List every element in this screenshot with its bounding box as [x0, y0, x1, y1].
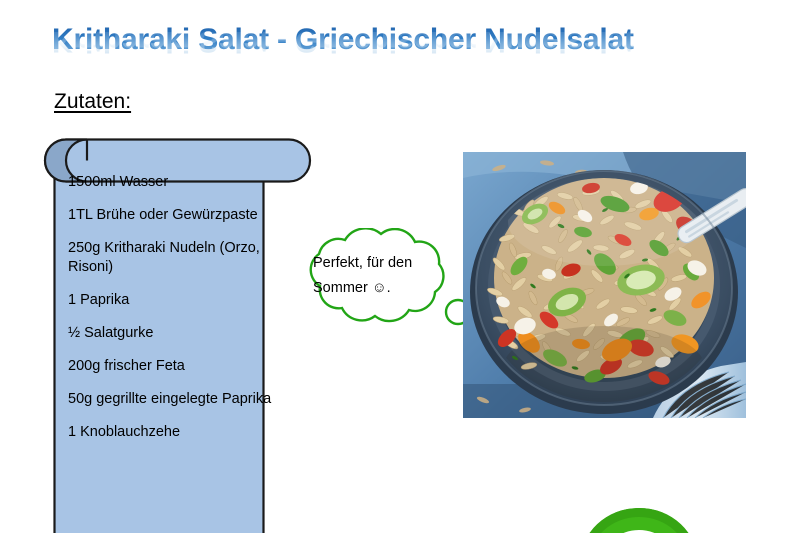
list-item: 200g frischer Feta — [68, 357, 273, 376]
slide-canvas: Kritharaki Salat - Griechischer Nudelsal… — [0, 0, 800, 533]
list-item: 1 Paprika — [68, 291, 273, 310]
dish-photo — [463, 152, 746, 418]
list-item: 50g gegrillte eingelegte Paprika — [68, 390, 273, 409]
list-item: ½ Salatgurke — [68, 324, 273, 343]
dish-photo-graphic — [463, 152, 746, 418]
list-item: 1TL Brühe oder Gewürzpaste — [68, 206, 273, 225]
thought-bubble: Perfekt, für den Sommer ☺. — [283, 228, 483, 343]
list-item: 1500ml Wasser — [68, 173, 273, 192]
list-item: 250g Kritharaki Nudeln (Orzo, Risoni) — [68, 239, 273, 277]
page-title: Kritharaki Salat - Griechischer Nudelsal… — [52, 22, 752, 92]
list-item: 1 Knoblauchzehe — [68, 423, 273, 442]
thought-bubble-line-1: Perfekt, für den — [313, 251, 453, 276]
ingredients-heading: Zutaten: — [54, 90, 131, 114]
thought-bubble-line-2: Sommer ☺. — [313, 276, 453, 301]
ingredients-scroll: 1500ml Wasser 1TL Brühe oder Gewürzpaste… — [53, 138, 305, 533]
green-ring-decoration — [580, 508, 698, 533]
title-text: Kritharaki Salat - Griechischer Nudelsal… — [52, 22, 752, 58]
ingredients-list: 1500ml Wasser 1TL Brühe oder Gewürzpaste… — [68, 173, 273, 456]
thought-bubble-text: Perfekt, für den Sommer ☺. — [313, 251, 453, 301]
